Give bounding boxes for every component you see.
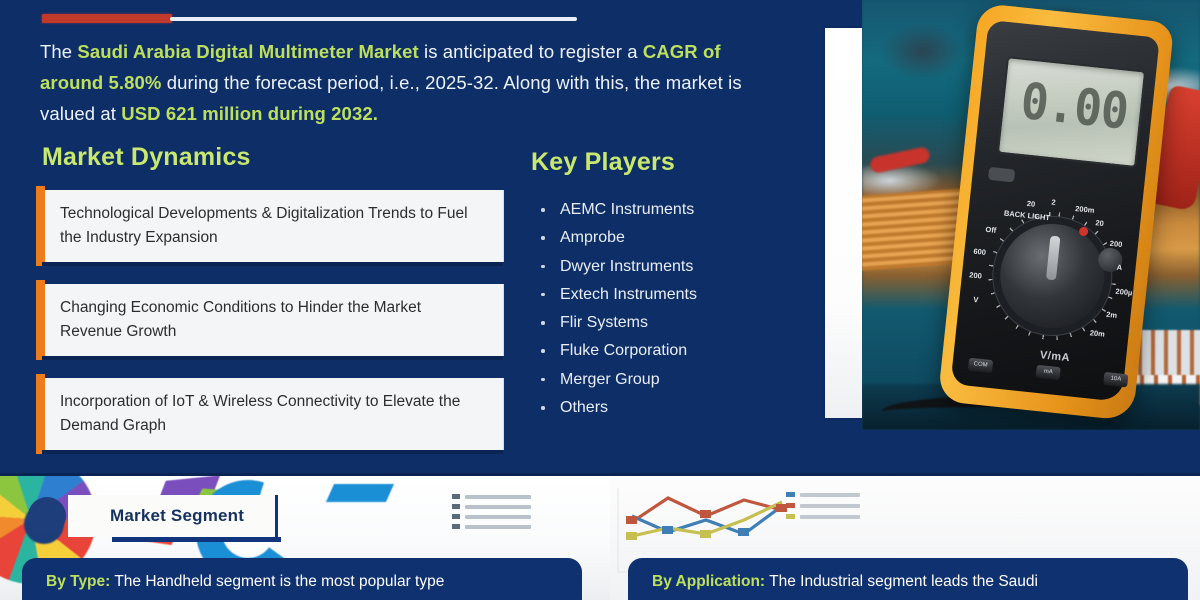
- list-item: Merger Group: [536, 366, 796, 394]
- legend-text-placeholder: [465, 505, 531, 509]
- hold-button[interactable]: [988, 167, 1015, 183]
- card-shadow: [42, 450, 503, 454]
- intro-seg-0: The: [40, 41, 77, 62]
- card-text: Changing Economic Conditions to Hinder t…: [42, 284, 503, 344]
- market-dynamics-heading: Market Dynamics: [42, 143, 251, 172]
- jack-ma[interactable]: mA: [1036, 365, 1061, 380]
- badge-bottom-border: [112, 537, 281, 542]
- legend-text-placeholder: [800, 493, 860, 497]
- device-brand-label: V/mA: [1039, 349, 1070, 364]
- divider-white-segment: [170, 17, 577, 21]
- multimeter-product-photo: 0.00 V/mA COM mA 10A V200600OffBACK LIGH…: [862, 0, 1200, 430]
- intro-seg-2: is anticipated to register a: [419, 41, 643, 62]
- divider-red-segment: [42, 14, 172, 23]
- market-dynamics-list: Technological Developments & Digitalizat…: [42, 190, 504, 472]
- list-item: Dwyer Instruments: [536, 253, 796, 281]
- card-text: Incorporation of IoT & Wireless Connecti…: [42, 378, 503, 438]
- dial-label: 200: [969, 271, 982, 281]
- dial-label: 600: [973, 246, 986, 256]
- line-chart-legend: [786, 492, 860, 525]
- card-accent-bar: [36, 374, 45, 454]
- dial-label: A: [1116, 262, 1122, 272]
- market-segment-label: Market Segment: [110, 506, 244, 526]
- intro-market-name: Saudi Arabia Digital Multimeter Market: [77, 41, 418, 62]
- legend-text-placeholder: [800, 504, 860, 508]
- market-segment-badge: Market Segment: [68, 495, 278, 537]
- header-divider: [42, 14, 582, 24]
- list-item: Extech Instruments: [536, 281, 796, 309]
- legend-swatch: [452, 494, 460, 499]
- jack-com[interactable]: COM: [968, 358, 993, 373]
- panel-key-label: By Type:: [46, 573, 110, 590]
- legend-swatch: [452, 504, 460, 509]
- photo-white-accent-strip: [825, 28, 863, 418]
- panel-body-text: The Industrial segment leads the Saudi: [765, 573, 1038, 590]
- dial-label: V: [973, 295, 979, 304]
- digital-multimeter-device: 0.00 V/mA COM mA 10A V200600OffBACK LIGH…: [938, 3, 1175, 421]
- legend-text-placeholder: [465, 525, 531, 529]
- intro-paragraph: The Saudi Arabia Digital Multimeter Mark…: [40, 36, 770, 129]
- key-players-heading: Key Players: [531, 148, 675, 177]
- top-navy-section: The Saudi Arabia Digital Multimeter Mark…: [0, 0, 1200, 476]
- dial-label: 200µ: [1115, 287, 1133, 298]
- chart-legend-graphic: [452, 494, 562, 534]
- legend-swatch: [786, 492, 795, 497]
- panel-key-label: By Application:: [652, 573, 765, 590]
- dial-label: 2: [1051, 198, 1056, 207]
- dial-label: 2m: [1106, 310, 1118, 320]
- multimeter-lcd-screen: 0.00: [997, 56, 1146, 168]
- chart-polygon: [326, 484, 394, 502]
- list-item: Flir Systems: [536, 309, 796, 337]
- legend-swatch: [786, 514, 795, 519]
- key-players-list: AEMC Instruments Amprobe Dwyer Instrumen…: [536, 196, 796, 422]
- dial-label: 20: [1095, 219, 1104, 229]
- infographic-page: The Saudi Arabia Digital Multimeter Mark…: [0, 0, 1200, 600]
- market-segment-bullet-circle: [28, 497, 66, 535]
- market-dynamics-card: Changing Economic Conditions to Hinder t…: [42, 284, 504, 356]
- legend-text-placeholder: [465, 495, 531, 499]
- probe-jack-row: COM mA 10A: [968, 358, 1129, 389]
- panel-body-text: The Handheld segment is the most popular…: [110, 573, 444, 590]
- card-shadow: [42, 356, 503, 360]
- legend-text-placeholder: [465, 515, 531, 519]
- list-item: Others: [536, 394, 796, 422]
- list-item: Fluke Corporation: [536, 337, 796, 365]
- legend-swatch: [786, 503, 795, 508]
- segment-panel-by-type: By Type: The Handheld segment is the mos…: [22, 558, 582, 600]
- dial-label: 20: [1026, 199, 1035, 209]
- card-accent-bar: [36, 280, 45, 360]
- jack-10a[interactable]: 10A: [1103, 372, 1128, 387]
- intro-market-value: USD 621 million during 2032.: [121, 103, 378, 124]
- market-dynamics-card: Incorporation of IoT & Wireless Connecti…: [42, 378, 504, 450]
- legend-text-placeholder: [800, 515, 860, 519]
- legend-swatch: [452, 514, 460, 519]
- market-dynamics-card: Technological Developments & Digitalizat…: [42, 190, 504, 262]
- card-accent-bar: [36, 186, 45, 266]
- segment-panel-by-application: By Application: The Industrial segment l…: [628, 558, 1188, 600]
- dial-label: 200: [1109, 239, 1122, 249]
- card-text: Technological Developments & Digitalizat…: [42, 190, 503, 250]
- dial-label: Off: [985, 225, 997, 235]
- list-item: Amprobe: [536, 224, 796, 252]
- legend-swatch: [452, 524, 460, 529]
- dial-label: 20m: [1089, 329, 1105, 340]
- lcd-reading-value: 0.00: [1018, 76, 1130, 137]
- list-item: AEMC Instruments: [536, 196, 796, 224]
- dial-label: 200m: [1075, 204, 1095, 215]
- card-shadow: [42, 262, 503, 266]
